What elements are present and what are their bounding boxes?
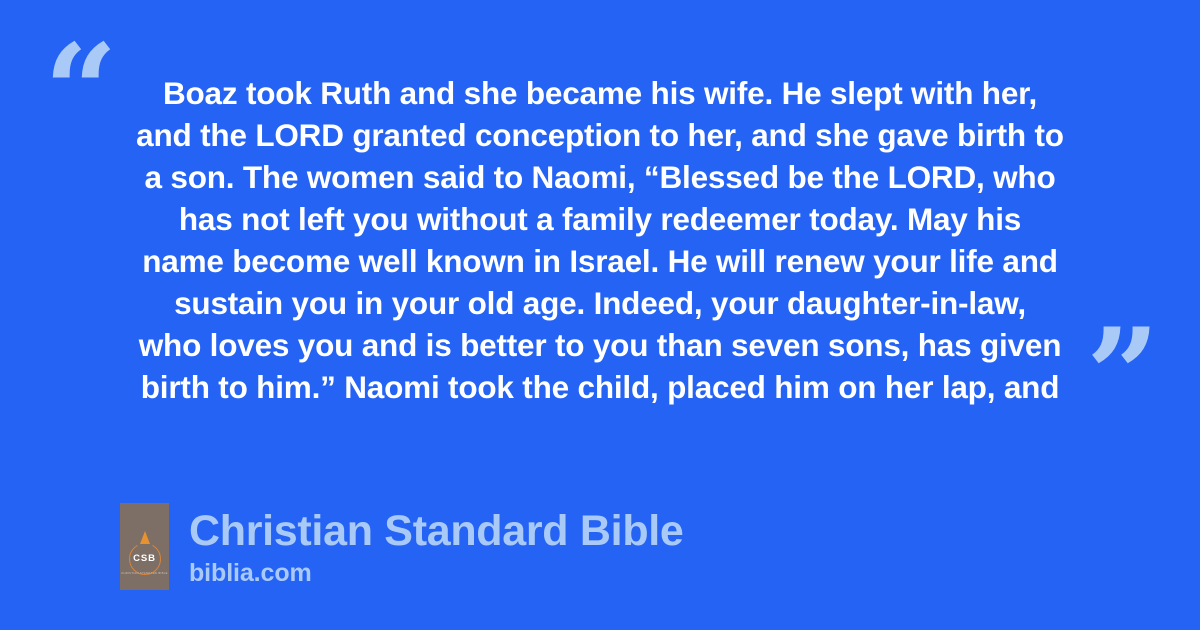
- verse-line: and the LORD granted conception to her, …: [110, 114, 1090, 156]
- verse-line: name become well known in Israel. He wil…: [110, 240, 1090, 282]
- verse-line: sustain you in your old age. Indeed, you…: [110, 282, 1090, 324]
- closing-quote-icon: ”: [1086, 312, 1160, 440]
- book-emblem-label: CSB: [120, 553, 169, 564]
- branding-footer: CSB CHRISTIAN STANDARD BIBLE Christian S…: [120, 503, 684, 590]
- brand-text-group: Christian Standard Bible biblia.com: [189, 506, 684, 588]
- verse-text: Boaz took Ruth and she became his wife. …: [110, 72, 1090, 408]
- bible-translation-title: Christian Standard Bible: [189, 506, 684, 556]
- verse-line: has not left you without a family redeem…: [110, 198, 1090, 240]
- verse-image-card: “ Boaz took Ruth and she became his wife…: [0, 0, 1200, 630]
- book-cover-tagline: CHRISTIAN STANDARD BIBLE: [120, 572, 169, 575]
- source-website-url: biblia.com: [189, 558, 684, 588]
- verse-line: a son. The women said to Naomi, “Blessed…: [110, 156, 1090, 198]
- verse-line: birth to him.” Naomi took the child, pla…: [110, 366, 1090, 408]
- verse-line: who loves you and is better to you than …: [110, 324, 1090, 366]
- verse-line: Boaz took Ruth and she became his wife. …: [110, 72, 1090, 114]
- book-flame-icon: [140, 531, 150, 544]
- book-cover-icon: CSB CHRISTIAN STANDARD BIBLE: [120, 503, 169, 590]
- opening-quote-icon: “: [44, 28, 118, 156]
